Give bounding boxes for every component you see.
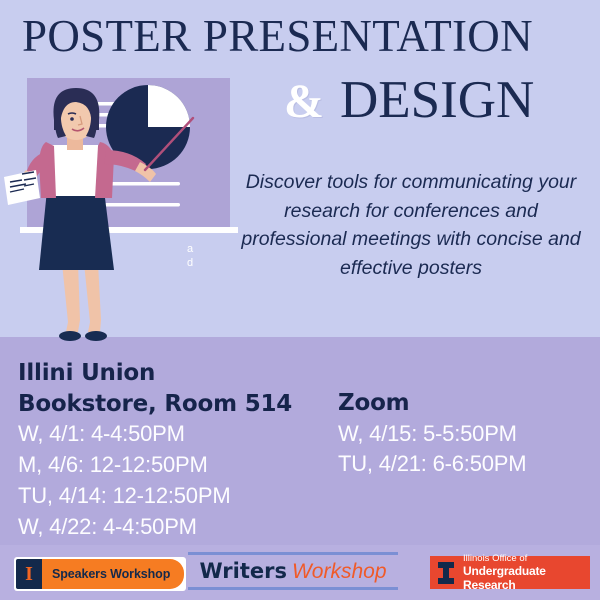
poster-title-line2: &DESIGN	[284, 74, 534, 127]
board-glyph-d: d	[187, 257, 193, 269]
venue-heading-line1: Illini Union	[18, 358, 338, 389]
session-item: TU, 4/14: 12-12:50PM	[18, 481, 338, 512]
writers-word: Writers	[199, 559, 287, 583]
leg-right	[84, 263, 101, 332]
ampersand-glyph: &	[284, 75, 324, 128]
blouse	[50, 145, 100, 196]
eye	[70, 117, 74, 121]
illinois-i-glyph: I	[25, 564, 33, 584]
illinois-i-icon	[435, 561, 457, 585]
skirt	[39, 190, 114, 270]
poster-description: Discover tools for communicating your re…	[230, 168, 592, 283]
shoe-left	[59, 331, 81, 341]
schedule-column-zoom: Zoom W, 4/15: 5-5:50PM TU, 4/21: 6-6:50P…	[338, 388, 594, 480]
board-glyph-a: a	[187, 243, 194, 255]
session-item: W, 4/22: 4-4:50PM	[18, 512, 338, 543]
shoe-right	[85, 331, 107, 341]
undergraduate-research-logo[interactable]: Illinois Office of Undergraduate Researc…	[430, 556, 590, 589]
session-item: W, 4/1: 4-4:50PM	[18, 419, 338, 450]
presenter-illustration: a d	[0, 70, 240, 345]
venue-heading-line2: Bookstore, Room 514	[18, 389, 338, 420]
speakers-workshop-logo[interactable]: I Speakers Workshop	[14, 557, 186, 591]
schedule-column-venue: Illini Union Bookstore, Room 514 W, 4/1:…	[18, 358, 338, 542]
poster-title-line1: POSTER PRESENTATION	[22, 14, 582, 59]
speakers-workshop-label: Speakers Workshop	[42, 559, 184, 589]
uor-line1: Illinois Office of	[463, 553, 590, 564]
leg-left	[62, 263, 80, 332]
session-item: TU, 4/21: 6-6:50PM	[338, 449, 594, 480]
poster-canvas: a d	[0, 0, 600, 600]
board-line-4	[110, 182, 180, 186]
illinois-i-glyph	[436, 561, 456, 585]
session-item: M, 4/6: 12-12:50PM	[18, 450, 338, 481]
workshop-word: Workshop	[292, 560, 387, 583]
poster-title-design: DESIGN	[340, 71, 534, 129]
zoom-heading: Zoom	[338, 388, 594, 419]
session-item: W, 4/15: 5-5:50PM	[338, 419, 594, 450]
writers-workshop-logo[interactable]: WritersWorkshop	[188, 552, 398, 590]
board-line-5	[105, 203, 180, 207]
undergraduate-research-label: Illinois Office of Undergraduate Researc…	[463, 553, 590, 593]
illinois-i-icon: I	[16, 559, 42, 589]
uor-line2: Undergraduate Research	[463, 564, 590, 592]
